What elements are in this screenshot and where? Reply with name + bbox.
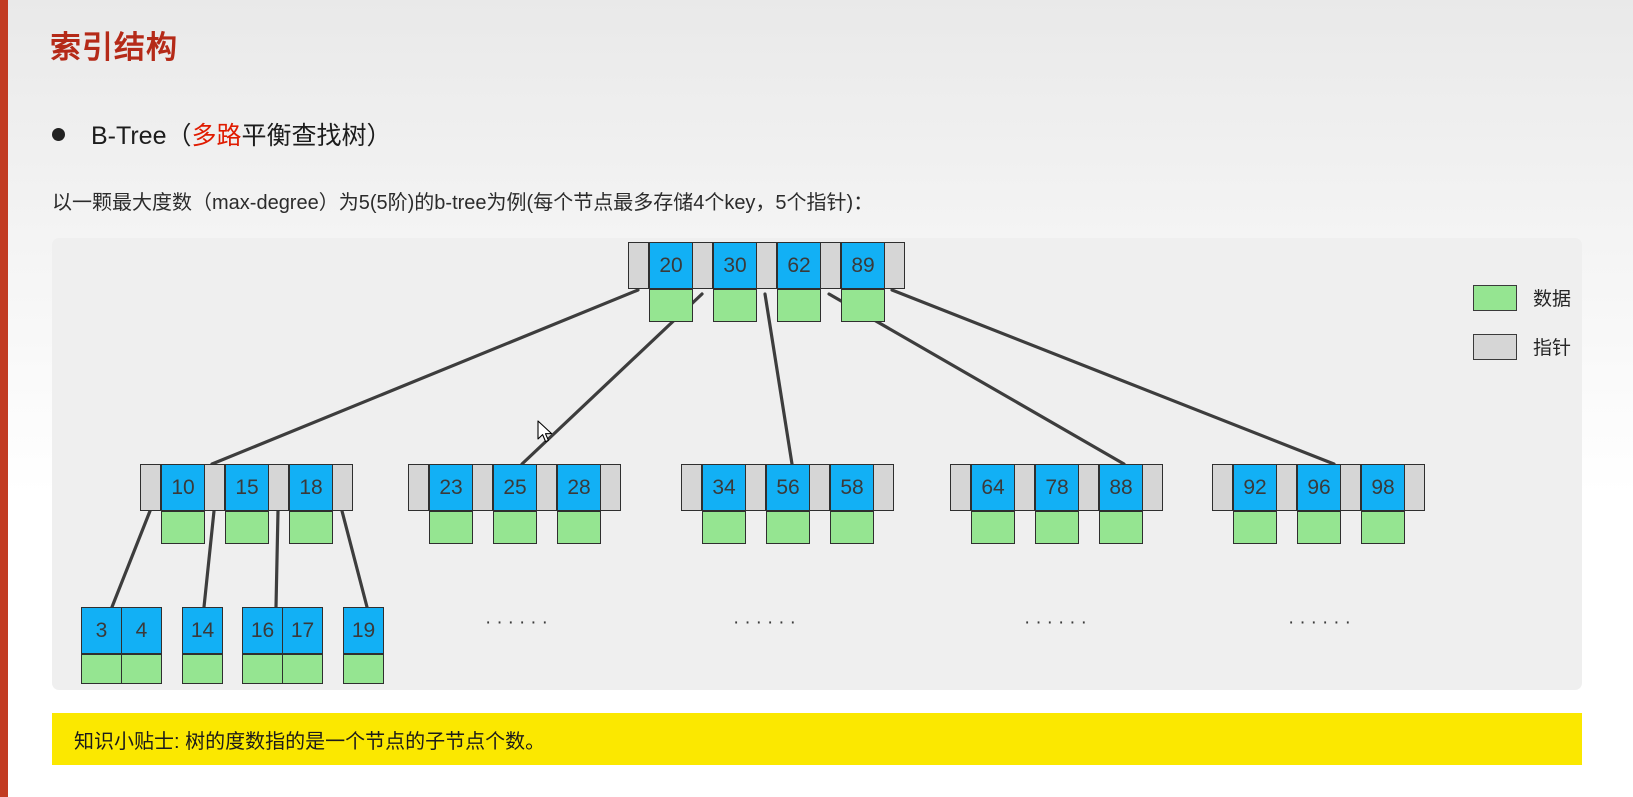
key-slot: 64 [971, 464, 1014, 544]
pointer-cell [536, 464, 557, 511]
pointer-cell [204, 464, 225, 511]
spacer [692, 289, 713, 322]
bullet-highlight: 多路 [191, 122, 241, 150]
data-cell [1035, 511, 1079, 544]
data-cell [1361, 511, 1405, 544]
key-cell: 62 [777, 242, 821, 289]
btree-node-leaf-4[interactable]: 19 [343, 607, 383, 684]
data-cell [702, 511, 746, 544]
pointer-cell [1142, 464, 1163, 511]
key-slot: 88 [1099, 464, 1142, 544]
key-cell: 34 [702, 464, 746, 511]
spacer [628, 289, 649, 322]
spacer [809, 511, 830, 544]
key-cell: 64 [971, 464, 1015, 511]
key-cell: 98 [1361, 464, 1405, 511]
pointer-slot [873, 464, 894, 544]
data-cell [1233, 511, 1277, 544]
key-cell: 3 [81, 607, 122, 654]
btree-node-internal-5[interactable]: 92 96 98 [1212, 464, 1425, 544]
key-slot: 89 [841, 242, 884, 322]
spacer [884, 289, 905, 322]
key-cell: 15 [225, 464, 269, 511]
data-cell [429, 511, 473, 544]
pointer-slot [268, 464, 289, 544]
pointer-slot [745, 464, 766, 544]
data-cell [289, 511, 333, 544]
pointer-cell [1078, 464, 1099, 511]
pointer-slot [1276, 464, 1297, 544]
legend-swatch-pointer-icon [1473, 334, 1517, 360]
left-accent-rail [0, 0, 8, 797]
pointer-cell [1340, 464, 1361, 511]
key-cell: 25 [493, 464, 537, 511]
pointer-cell [873, 464, 894, 511]
data-cell [81, 654, 122, 684]
spacer [1142, 511, 1163, 544]
spacer [204, 511, 225, 544]
key-slot: 23 [429, 464, 472, 544]
pointer-cell [1404, 464, 1425, 511]
spacer [408, 511, 429, 544]
page-title: 索引结构 [50, 22, 178, 67]
spacer [950, 511, 971, 544]
key-cell: 78 [1035, 464, 1079, 511]
pointer-slot [809, 464, 830, 544]
pointer-slot [1340, 464, 1361, 544]
key-cell: 17 [282, 607, 323, 654]
pointer-slot [1404, 464, 1425, 544]
pointer-slot [681, 464, 702, 544]
btree-node-internal-3[interactable]: 34 56 58 [681, 464, 894, 544]
spacer [332, 511, 353, 544]
spacer [600, 511, 621, 544]
data-cell [161, 511, 205, 544]
pointer-cell [268, 464, 289, 511]
key-cell: 14 [182, 607, 223, 654]
data-cell [121, 654, 162, 684]
ellipsis-3: ······ [1024, 612, 1092, 634]
pointer-cell [756, 242, 777, 289]
pointer-slot [628, 242, 649, 322]
spacer [745, 511, 766, 544]
key-slot: 58 [830, 464, 873, 544]
tip-text: 知识小贴士: 树的度数指的是一个节点的子节点个数。 [74, 725, 545, 754]
pointer-cell [745, 464, 766, 511]
legend: 数据 指针 [1473, 284, 1571, 360]
slide-canvas: 索引结构 B-Tree（多路平衡查找树） 以一颗最大度数（max-degree）… [0, 0, 1633, 797]
data-cell [557, 511, 601, 544]
ellipsis-2: ······ [733, 612, 801, 634]
pointer-slot [408, 464, 429, 544]
pointer-slot [756, 242, 777, 322]
data-cell [830, 511, 874, 544]
pointer-cell [140, 464, 161, 511]
key-cell: 4 [121, 607, 162, 654]
data-cell [182, 654, 223, 684]
bullet-row: B-Tree（多路平衡查找树） [52, 116, 392, 152]
key-cell: 58 [830, 464, 874, 511]
pointer-slot [332, 464, 353, 544]
pointer-slot [820, 242, 841, 322]
btree-node-internal-4[interactable]: 64 78 88 [950, 464, 1163, 544]
pointer-slot [1212, 464, 1233, 544]
data-cell [841, 289, 885, 322]
pointer-cell [884, 242, 905, 289]
pointer-slot [536, 464, 557, 544]
data-cell [242, 654, 283, 684]
key-cell: 23 [429, 464, 473, 511]
spacer [1340, 511, 1361, 544]
pointer-slot [950, 464, 971, 544]
pointer-slot [1078, 464, 1099, 544]
pointer-cell [809, 464, 830, 511]
spacer [756, 289, 777, 322]
btree-node-root[interactable]: 20 30 62 89 [628, 242, 905, 322]
spacer [1404, 511, 1425, 544]
spacer [820, 289, 841, 322]
data-cell [777, 289, 821, 322]
btree-node-internal-1[interactable]: 10 15 18 [140, 464, 353, 544]
key-slot: 25 [493, 464, 536, 544]
legend-label-data: 数据 [1533, 284, 1571, 311]
data-cell [713, 289, 757, 322]
bullet-dot-icon [52, 128, 65, 141]
btree-node-leaf-1[interactable]: 3 4 [81, 607, 161, 684]
pointer-cell [472, 464, 493, 511]
legend-row-pointer: 指针 [1473, 333, 1571, 360]
key-slot: 17 [282, 607, 322, 684]
data-cell [766, 511, 810, 544]
pointer-cell [1014, 464, 1035, 511]
key-cell: 18 [289, 464, 333, 511]
key-slot: 56 [766, 464, 809, 544]
key-cell: 89 [841, 242, 885, 289]
legend-label-pointer: 指针 [1533, 333, 1571, 360]
key-slot: 34 [702, 464, 745, 544]
btree-node-internal-2[interactable]: 23 25 28 [408, 464, 621, 544]
data-cell [649, 289, 693, 322]
key-slot: 18 [289, 464, 332, 544]
pointer-cell [1212, 464, 1233, 511]
pointer-cell [600, 464, 621, 511]
key-cell: 96 [1297, 464, 1341, 511]
key-slot: 4 [121, 607, 161, 684]
pointer-slot [472, 464, 493, 544]
pointer-slot [1014, 464, 1035, 544]
spacer [472, 511, 493, 544]
btree-diagram-panel: 20 30 62 89 [52, 238, 1582, 690]
key-slot: 14 [182, 607, 222, 684]
key-cell: 16 [242, 607, 283, 654]
spacer [873, 511, 894, 544]
key-cell: 28 [557, 464, 601, 511]
key-slot: 62 [777, 242, 820, 322]
pointer-cell [950, 464, 971, 511]
spacer [140, 511, 161, 544]
legend-row-data: 数据 [1473, 284, 1571, 311]
key-cell: 10 [161, 464, 205, 511]
key-slot: 96 [1297, 464, 1340, 544]
bullet-text: B-Tree（多路平衡查找树） [91, 116, 392, 152]
data-cell [282, 654, 323, 684]
key-slot: 19 [343, 607, 383, 684]
key-cell: 30 [713, 242, 757, 289]
pointer-cell [692, 242, 713, 289]
btree-node-leaf-2[interactable]: 14 [182, 607, 222, 684]
pointer-slot [140, 464, 161, 544]
key-slot: 15 [225, 464, 268, 544]
spacer [536, 511, 557, 544]
key-slot: 98 [1361, 464, 1404, 544]
tip-bar: 知识小贴士: 树的度数指的是一个节点的子节点个数。 [52, 713, 1582, 765]
key-cell: 56 [766, 464, 810, 511]
pointer-cell [628, 242, 649, 289]
pointer-cell [408, 464, 429, 511]
data-cell [1099, 511, 1143, 544]
key-slot: 92 [1233, 464, 1276, 544]
key-cell: 20 [649, 242, 693, 289]
key-slot: 16 [242, 607, 282, 684]
key-slot: 10 [161, 464, 204, 544]
description-text: 以一颗最大度数（max-degree）为5(5阶)的b-tree为例(每个节点最… [52, 186, 873, 215]
pointer-slot [204, 464, 225, 544]
pointer-cell [681, 464, 702, 511]
pointer-slot [1142, 464, 1163, 544]
spacer [1276, 511, 1297, 544]
key-slot: 3 [81, 607, 121, 684]
data-cell [343, 654, 384, 684]
data-cell [225, 511, 269, 544]
pointer-cell [332, 464, 353, 511]
key-slot: 28 [557, 464, 600, 544]
pointer-cell [1276, 464, 1297, 511]
key-slot: 30 [713, 242, 756, 322]
pointer-cell [820, 242, 841, 289]
spacer [1078, 511, 1099, 544]
btree-node-leaf-3[interactable]: 16 17 [242, 607, 322, 684]
pointer-slot [692, 242, 713, 322]
key-cell: 19 [343, 607, 384, 654]
key-slot: 20 [649, 242, 692, 322]
spacer [1212, 511, 1233, 544]
pointer-slot [600, 464, 621, 544]
ellipsis-1: ······ [485, 612, 553, 634]
spacer [681, 511, 702, 544]
bullet-prefix: B-Tree（ [91, 122, 191, 150]
spacer [1014, 511, 1035, 544]
key-cell: 88 [1099, 464, 1143, 511]
data-cell [1297, 511, 1341, 544]
legend-swatch-data-icon [1473, 285, 1517, 311]
key-cell: 92 [1233, 464, 1277, 511]
bullet-suffix: 平衡查找树） [242, 122, 392, 150]
data-cell [971, 511, 1015, 544]
pointer-slot [884, 242, 905, 322]
key-slot: 78 [1035, 464, 1078, 544]
ellipsis-4: ······ [1288, 612, 1356, 634]
data-cell [493, 511, 537, 544]
spacer [268, 511, 289, 544]
